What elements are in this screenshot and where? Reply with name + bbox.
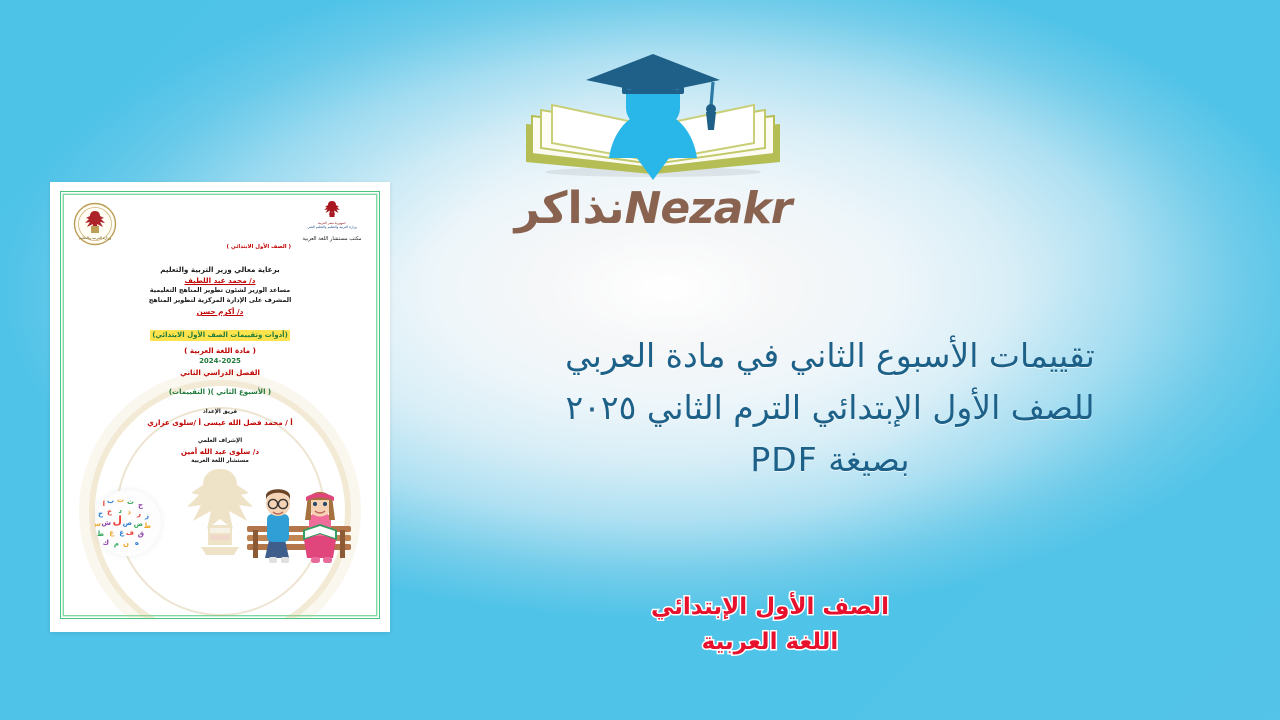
page-subtitle-line-1: الصف الأول الإبتدائي <box>490 590 1050 625</box>
svg-text:ط: ط <box>144 522 151 530</box>
svg-text:ل: ل <box>112 514 122 527</box>
svg-text:ض: ض <box>134 520 143 528</box>
doc-line: الفصل الدراسي الثاني <box>61 367 379 378</box>
doc-line: 2024-2025 <box>61 356 379 367</box>
ministry-header-block: جمهورية مصر العربية وزارة التربية والتعل… <box>295 200 369 242</box>
doc-line: (أدوات وتقييمات الصف الأول الابتدائي) <box>150 330 290 341</box>
doc-line: د/ أكرم حسن <box>61 306 379 317</box>
doc-line: د/ سلوى عبد الله أمين <box>61 446 379 457</box>
logo-wordmark-latin: Nezakr <box>625 183 792 234</box>
svg-text:ر: ر <box>136 510 141 518</box>
page-subtitle: الصف الأول الإبتدائي اللغة العربية <box>490 590 1050 659</box>
doc-line: د/ محمد عبد اللطيف <box>61 275 379 286</box>
svg-text:ص: ص <box>123 519 132 527</box>
document-preview-card[interactable]: MINISTRY OF EDUCATION AND TECHNICAL EDUC… <box>50 182 390 632</box>
svg-text:ث: ث <box>127 498 134 506</box>
page-title: تقييمات الأسبوع الثاني في مادة العربي لل… <box>480 330 1180 486</box>
svg-text:ف: ف <box>126 529 134 537</box>
page-subtitle-line-2: اللغة العربية <box>490 625 1050 660</box>
svg-text:ج: ج <box>138 501 144 509</box>
doc-line: مساعد الوزير لشئون تطوير المناهج التعليم… <box>61 286 379 296</box>
svg-text:ز: ز <box>144 512 149 520</box>
graduation-book-logo-icon <box>508 50 798 180</box>
svg-text:ح: ح <box>98 510 104 518</box>
doc-line: فريق الإعداد <box>61 408 379 417</box>
svg-text:ب: ب <box>107 497 114 505</box>
svg-text:ظ: ظ <box>97 530 104 538</box>
svg-text:م: م <box>114 540 119 548</box>
svg-text:ذ: ذ <box>127 508 131 516</box>
office-label: مكتب مستشار اللغة العربية <box>295 236 369 242</box>
logo-wordmark: Nezakrنذاكر <box>508 182 798 236</box>
svg-text:أ: أ <box>103 499 105 508</box>
doc-line: أ / محمد فضل الله عيسى أ /سلوى عزازي <box>61 417 379 428</box>
doc-line: ( الأسبوع الثاني )( التقييمات) <box>61 387 379 398</box>
doc-line: مستشار اللغة العربية <box>61 457 379 466</box>
ministry-eagle-icon <box>323 200 341 220</box>
svg-text:ك: ك <box>103 539 109 547</box>
page-title-line-2: للصف الأول الإبتدائي الترم الثاني ٢٠٢٥ <box>480 382 1180 434</box>
arabic-alphabet-circle-icon: أب تث ج حخ دذ رز سش لص ضط ظع غف ق كم نه <box>95 490 161 556</box>
svg-text:ت: ت <box>117 496 124 504</box>
document-grade-tag: ( الصف الأول الابتدائي ) <box>227 244 291 250</box>
svg-text:وزارة التربية والتعليم: وزارة التربية والتعليم <box>79 236 111 240</box>
national-seal-icon: وزارة التربية والتعليم <box>73 202 117 246</box>
doc-line: الإشراف العلمي <box>61 437 379 446</box>
two-children-reading-icon <box>241 474 357 566</box>
svg-text:ش: ش <box>101 519 111 527</box>
document-page: MINISTRY OF EDUCATION AND TECHNICAL EDUC… <box>60 191 380 619</box>
site-logo[interactable]: Nezakrنذاكر <box>508 50 798 240</box>
page-title-line-3: بصيغة PDF <box>480 434 1180 486</box>
page-title-line-1: تقييمات الأسبوع الثاني في مادة العربي <box>480 330 1180 382</box>
logo-wordmark-arabic: نذاكر <box>515 183 625 234</box>
svg-text:ق: ق <box>138 530 144 538</box>
svg-text:غ: غ <box>119 529 125 537</box>
doc-line: المشرف على الإدارة المركزية لتطوير المنا… <box>61 296 379 306</box>
ministry-line-2: وزارة التربية والتعليم والتعليم الفني <box>295 225 369 229</box>
svg-text:ن: ن <box>123 540 129 548</box>
svg-text:ه: ه <box>135 539 139 547</box>
doc-line: برعاية معالي وزير التربية والتعليم <box>61 264 379 275</box>
doc-line: ( مادة اللغة العربية ) <box>61 345 379 356</box>
svg-text:ع: ع <box>109 529 115 537</box>
document-body: برعاية معالي وزير التربية والتعليم د/ مح… <box>61 264 379 465</box>
